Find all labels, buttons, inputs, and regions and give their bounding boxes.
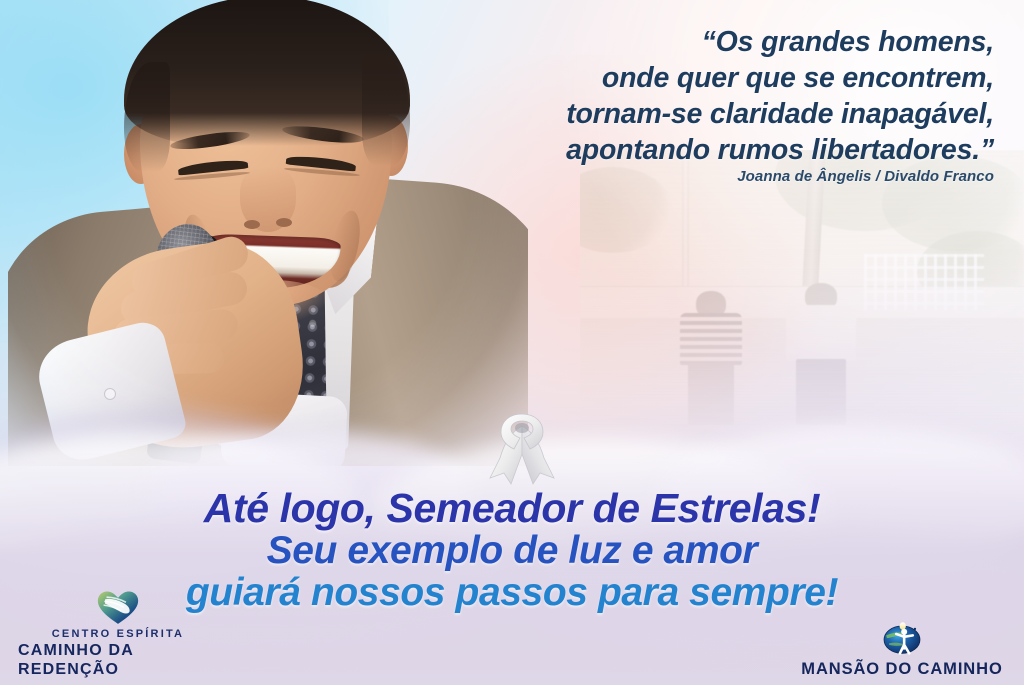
quote-line-1: “Os grandes homens, bbox=[374, 24, 994, 60]
bg-photo-person bbox=[784, 283, 858, 423]
bg-photo-person-torso bbox=[680, 313, 742, 365]
quote-line-4: apontando rumos libertadores.” bbox=[374, 132, 994, 168]
logo-centro-espirita-caminho-da-redencao[interactable]: CENTRO ESPÍRITA CAMINHO DA REDENÇÃO bbox=[18, 591, 218, 679]
quote-line-2: onde quer que se encontrem, bbox=[374, 60, 994, 96]
logo-right-line-1: MANSÃO DO CAMINHO bbox=[801, 659, 1002, 679]
bg-photo-person-legs bbox=[796, 359, 846, 425]
quote-block: “Os grandes homens, onde quer que se enc… bbox=[374, 24, 994, 168]
globe-figure-icon bbox=[877, 622, 927, 656]
quote-line-3: tornam-se claridade inapagável, bbox=[374, 96, 994, 132]
bg-photo-person-legs bbox=[688, 363, 734, 425]
logo-mansao-do-caminho[interactable]: MANSÃO DO CAMINHO bbox=[792, 622, 1012, 679]
heart-hands-icon bbox=[91, 591, 145, 625]
quote-attribution: Joanna de Ângelis / Divaldo Franco bbox=[374, 168, 994, 185]
background-photo-two-people-walking bbox=[580, 150, 1024, 440]
logo-left-line-2: CAMINHO DA REDENÇÃO bbox=[18, 641, 218, 679]
portrait-nostril-left bbox=[244, 220, 260, 229]
bg-photo-fence bbox=[864, 254, 984, 310]
bg-photo-person bbox=[678, 291, 744, 423]
awareness-ribbon-icon bbox=[487, 410, 557, 488]
bg-photo-person-torso bbox=[786, 305, 856, 361]
portrait-cuff-button bbox=[104, 388, 116, 400]
memorial-poster: “Os grandes homens, onde quer que se enc… bbox=[0, 0, 1024, 685]
headline-line-2: Seu exemplo de luz e amor bbox=[0, 530, 1024, 572]
logo-left-line-1: CENTRO ESPÍRITA bbox=[52, 627, 184, 641]
headline-line-1: Até logo, Semeador de Estrelas! bbox=[0, 486, 1024, 530]
portrait-nostril-right bbox=[276, 218, 292, 227]
